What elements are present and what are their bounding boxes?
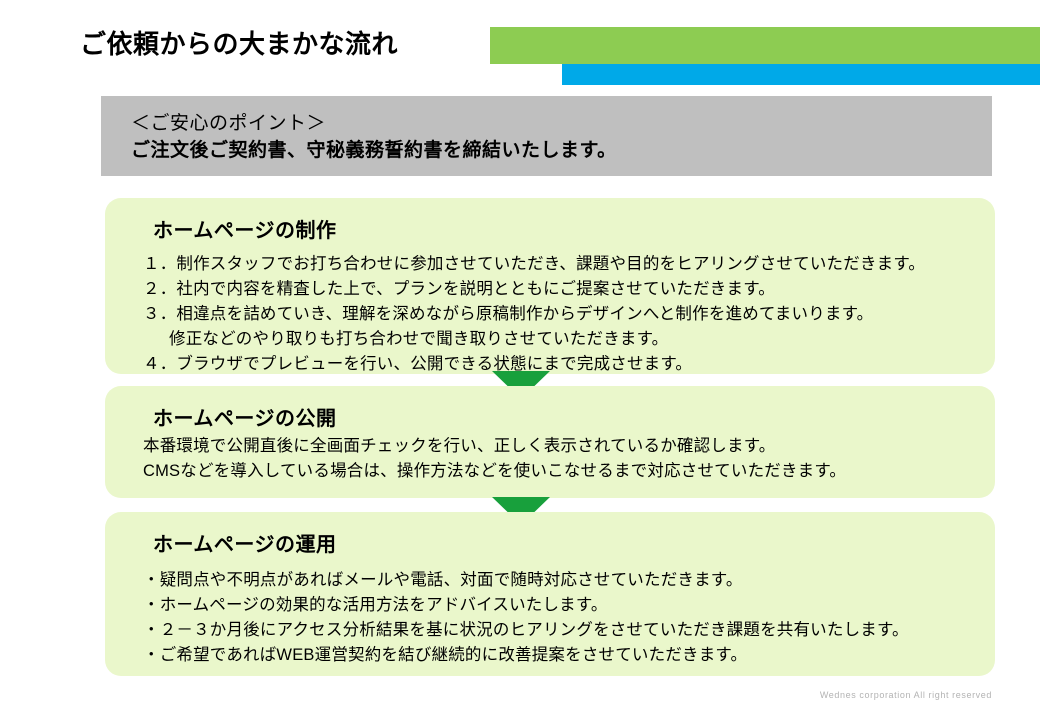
card-heading: ホームページの公開 <box>153 402 337 431</box>
list-item: １．制作スタッフでお打ち合わせに参加させていただき、課題や目的をヒアリングさせて… <box>143 252 985 277</box>
card-body: 本番環境で公開直後に全画面チェックを行い、正しく表示されているか確認します。 C… <box>143 434 985 484</box>
notice-statement: ご注文後ご契約書、守秘義務誓約書を締結いたします。 <box>131 137 992 164</box>
header-accent-bar-green <box>490 27 1040 64</box>
flow-card-operation: ホームページの運用 ・疑問点や不明点があればメールや電話、対面で随時対応させてい… <box>105 512 995 676</box>
list-item: ・ホームページの効果的な活用方法をアドバイスいたします。 <box>143 593 985 618</box>
page-title: ご依頼からの大まかな流れ <box>80 25 398 63</box>
flow-card-publication: ホームページの公開 本番環境で公開直後に全画面チェックを行い、正しく表示されてい… <box>105 386 995 498</box>
list-item: ・ご希望であればWEB運営契約を結び継続的に改善提案をさせていただきます。 <box>143 643 985 668</box>
footer-copyright: Wednes corporation All right reserved <box>0 690 992 700</box>
header-accent-bar-blue <box>562 64 1040 85</box>
card-body: １．制作スタッフでお打ち合わせに参加させていただき、課題や目的をヒアリングさせて… <box>143 252 985 377</box>
list-item: CMSなどを導入している場合は、操作方法などを使いこなせるまで対応させていただき… <box>143 459 985 484</box>
list-item: ４．ブラウザでプレビューを行い、公開できる状態にまで完成させます。 <box>143 352 985 377</box>
notice-box: ＜ご安心のポイント＞ ご注文後ご契約書、守秘義務誓約書を締結いたします。 <box>101 96 992 176</box>
list-item: ３．相違点を詰めていき、理解を深めながら原稿制作からデザインへと制作を進めてまい… <box>143 302 985 327</box>
card-body: ・疑問点や不明点があればメールや電話、対面で随時対応させていただきます。 ・ホー… <box>143 568 985 668</box>
flow-card-production: ホームページの制作 １．制作スタッフでお打ち合わせに参加させていただき、課題や目… <box>105 198 995 374</box>
list-item: ・２－３か月後にアクセス分析結果を基に状況のヒアリングをさせていただき課題を共有… <box>143 618 985 643</box>
list-item: ２．社内で内容を精査した上で、プランを説明とともにご提案させていただきます。 <box>143 277 985 302</box>
list-item-continuation: 修正などのやり取りも打ち合わせで聞き取りさせていただきます。 <box>143 327 985 352</box>
list-item: ・疑問点や不明点があればメールや電話、対面で随時対応させていただきます。 <box>143 568 985 593</box>
notice-subtitle: ＜ご安心のポイント＞ <box>131 110 992 137</box>
card-heading: ホームページの制作 <box>153 214 337 243</box>
list-item: 本番環境で公開直後に全画面チェックを行い、正しく表示されているか確認します。 <box>143 434 985 459</box>
card-heading: ホームページの運用 <box>153 528 337 557</box>
